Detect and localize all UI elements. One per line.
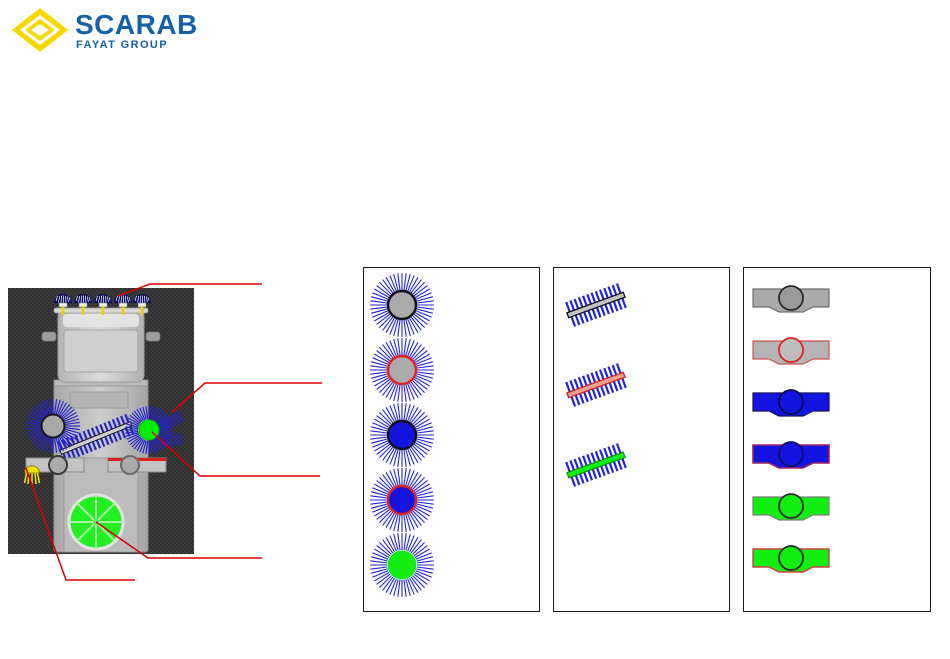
brush-hub [139,420,159,440]
brush-profile-variant [753,338,829,364]
panel-brush-side-profiles [743,267,931,612]
panel-angled-wide-brushes [553,267,730,612]
right-channel-brush [125,406,173,454]
disc-brush-variant [370,338,434,402]
brand-subtitle: FAYAT GROUP [76,39,168,51]
brush-profile-variant [753,390,829,416]
front-wheel-hub [49,456,67,474]
wide-brush-variant [563,363,628,408]
suction-fan [69,495,123,549]
page-canvas: SCARAB FAYAT GROUP [0,0,950,659]
rear-wheel-hub [121,456,139,474]
cab-roof-highlight [63,314,139,327]
panel-round-disc-brushes [363,267,540,612]
mirror-right [146,332,160,341]
scarab-logo: SCARAB FAYAT GROUP [10,6,240,54]
disc-brush-variant [370,533,434,597]
vehicle-top-view-figure [8,288,194,554]
callout-line-side-spray-jet [172,383,322,412]
vehicle-hopper-panel [70,392,128,408]
brand-name: SCARAB [75,9,198,40]
disc-brush-variant [370,273,434,337]
brush-profile-variant [753,286,829,312]
brush-profile-variant [753,546,829,572]
disc-brush-variant [370,468,434,532]
scarab-diamond-logo-icon [12,8,68,52]
disc-brush-variant [370,403,434,467]
brush-profile-variant [753,442,829,468]
front-spray-bar [54,308,148,313]
cab-windscreen [64,330,138,372]
wide-brush-variant [563,283,628,328]
brush-profile-variant [753,494,829,520]
mirror-left [42,332,56,341]
wide-brush-variant [563,443,628,488]
left-channel-brush [26,399,80,453]
brush-hub [42,415,65,438]
